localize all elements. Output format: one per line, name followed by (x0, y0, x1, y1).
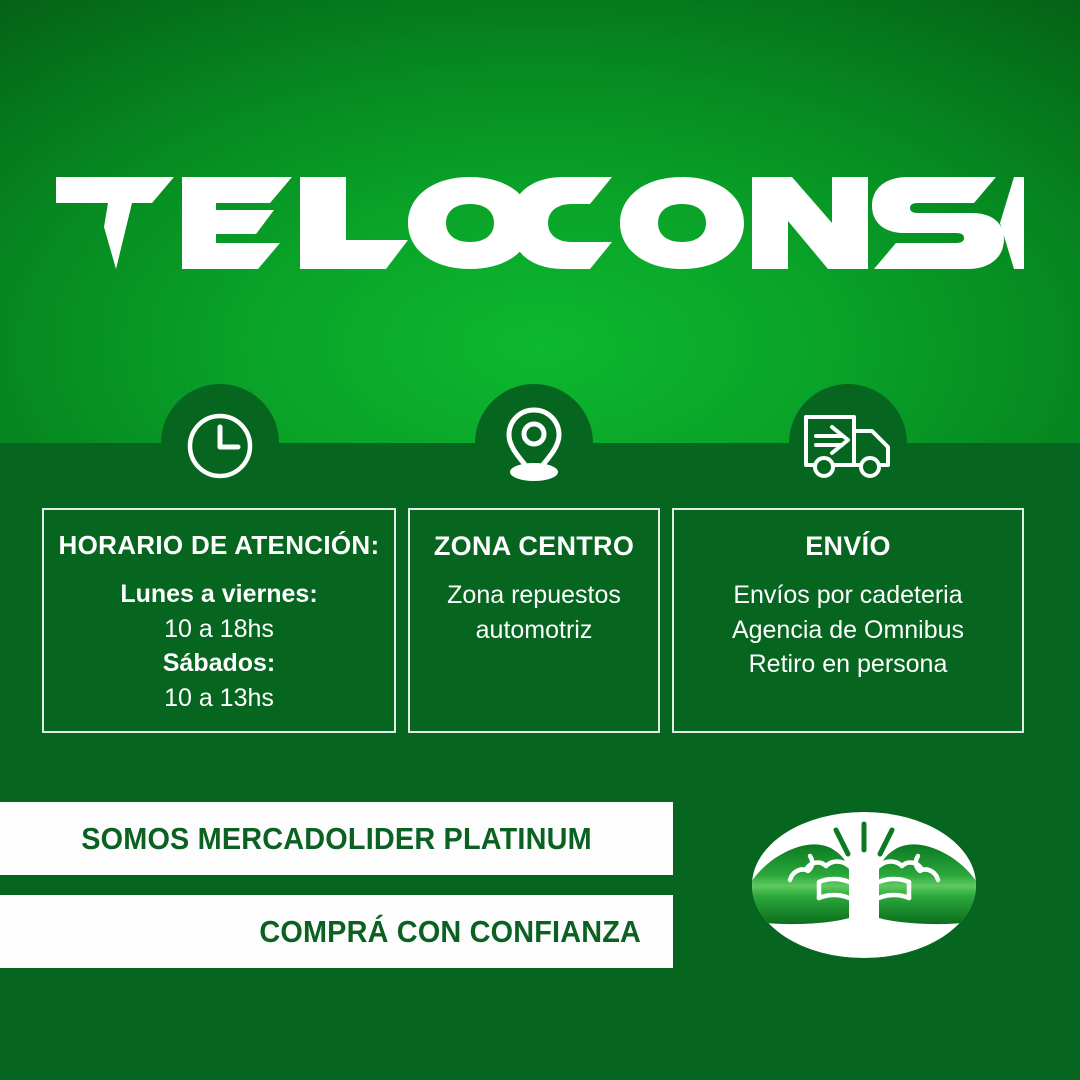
card-line: 10 a 18hs (44, 612, 394, 647)
brand-logo: TELOCONSIGO (0, 168, 1080, 278)
card-line: Sábados: (44, 646, 394, 681)
card-line: Zona repuestos (410, 578, 658, 613)
clock-icon (184, 410, 256, 482)
card-title: HORARIO DE ATENCIÓN: (44, 530, 394, 561)
info-card-zona: ZONA CENTRO Zona repuestos automotriz (408, 508, 660, 733)
card-icon-3 (789, 398, 907, 494)
card-line: automotriz (410, 613, 658, 648)
info-card-envio: ENVÍO Envíos por cadeteria Agencia de Om… (672, 508, 1024, 733)
fist-bump-icon (748, 806, 980, 964)
promo-poster: TELOCONSIGO (0, 0, 1080, 1080)
banner-confianza: COMPRÁ CON CONFIANZA (0, 895, 673, 968)
card-title: ZONA CENTRO (410, 530, 658, 562)
trust-badge (748, 806, 980, 964)
banner-text: SOMOS MERCADOLIDER PLATINUM (81, 821, 592, 857)
logo-wordmark: TELOCONSIGO (56, 177, 1024, 269)
delivery-truck-icon (802, 411, 894, 481)
card-title: ENVÍO (674, 530, 1022, 562)
card-line: Envíos por cadeteria (674, 578, 1022, 613)
card-line: Lunes a viernes: (44, 577, 394, 612)
card-icon-1 (161, 398, 279, 494)
card-line: Agencia de Omnibus (674, 613, 1022, 648)
banner-mercadolider: SOMOS MERCADOLIDER PLATINUM (0, 802, 673, 875)
location-pin-icon (496, 406, 572, 486)
card-line: Retiro en persona (674, 647, 1022, 682)
card-icon-2 (475, 398, 593, 494)
info-card-horario: HORARIO DE ATENCIÓN: Lunes a viernes: 10… (42, 508, 396, 733)
banner-text: COMPRÁ CON CONFIANZA (259, 914, 641, 950)
card-line: 10 a 13hs (44, 681, 394, 716)
